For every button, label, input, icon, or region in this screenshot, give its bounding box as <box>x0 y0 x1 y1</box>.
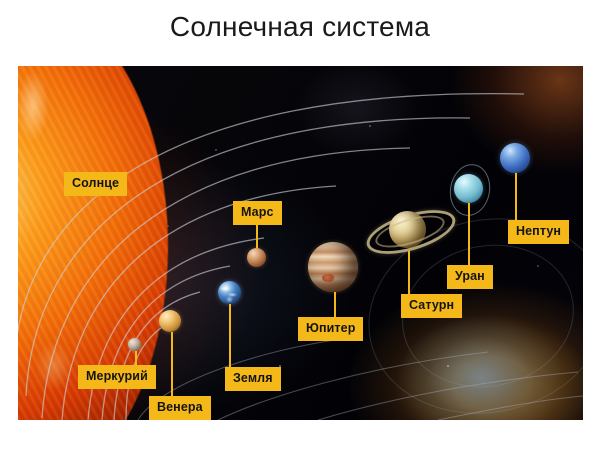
solar-system-diagram: Солнце Меркурий Венера Земля Марс Юпитер… <box>18 66 583 420</box>
leader-line-saturn <box>408 251 410 294</box>
label-sun: Солнце <box>64 172 127 196</box>
planet-earth <box>218 281 241 304</box>
label-mars: Марс <box>233 201 282 225</box>
label-earth: Земля <box>225 367 281 391</box>
planet-neptune <box>500 143 530 173</box>
earth-cloud-layer <box>218 281 241 304</box>
planet-uranus <box>454 174 483 203</box>
planet-mars <box>247 248 266 267</box>
leader-line-venus <box>171 332 173 396</box>
leader-line-mars <box>256 221 258 248</box>
leader-line-mercury <box>135 351 137 365</box>
leader-line-earth <box>229 304 231 367</box>
planet-mercury <box>128 338 141 351</box>
label-uranus: Уран <box>447 265 493 289</box>
label-jupiter: Юпитер <box>298 317 363 341</box>
planet-venus <box>159 310 181 332</box>
label-mercury: Меркурий <box>78 365 156 389</box>
jupiter-great-red-spot <box>322 274 335 282</box>
leader-line-neptune <box>515 173 517 220</box>
planet-jupiter <box>308 242 358 292</box>
slide: Солнечная система <box>0 0 600 450</box>
label-saturn: Сатурн <box>401 294 462 318</box>
label-venus: Венера <box>149 396 211 420</box>
label-neptune: Нептун <box>508 220 569 244</box>
leader-line-uranus <box>468 203 470 265</box>
page-title: Солнечная система <box>0 8 600 46</box>
leader-line-jupiter <box>334 292 336 317</box>
